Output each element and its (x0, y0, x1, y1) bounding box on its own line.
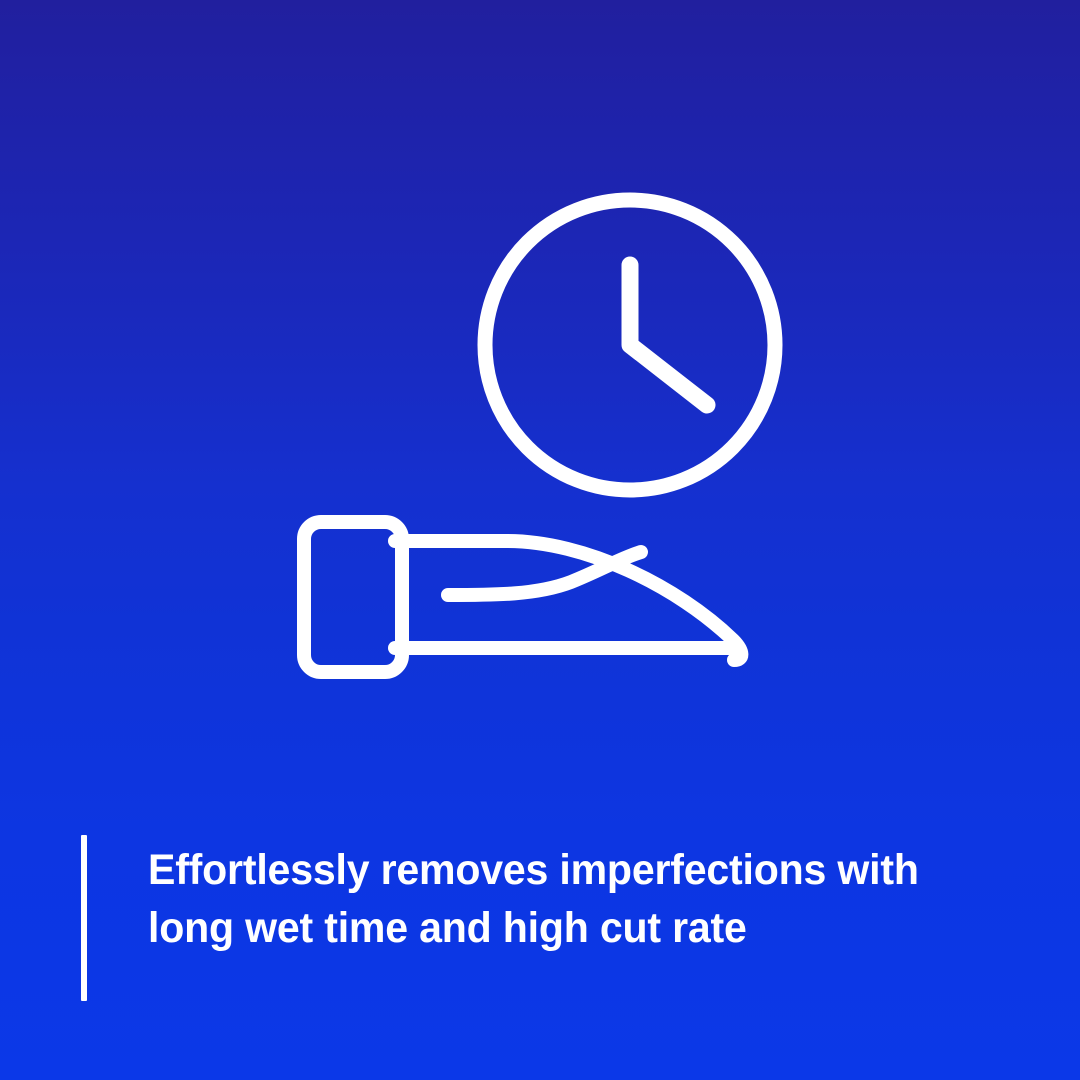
clock-icon (470, 185, 790, 505)
benefit-card: Effortlessly removes imperfections with … (0, 0, 1080, 1080)
caption-block: Effortlessly removes imperfections with … (81, 835, 1001, 1001)
clock-hands (630, 265, 707, 405)
icon-stack (0, 0, 1080, 760)
clock-icon-glyph (470, 185, 790, 505)
smear-inner-line (448, 552, 641, 595)
applicator-block (304, 522, 402, 672)
polish-spread-icon (285, 500, 765, 690)
caption-text: Effortlessly removes imperfections with … (148, 841, 963, 957)
accent-bar (81, 835, 87, 1001)
polish-spread-icon-glyph (285, 500, 765, 690)
